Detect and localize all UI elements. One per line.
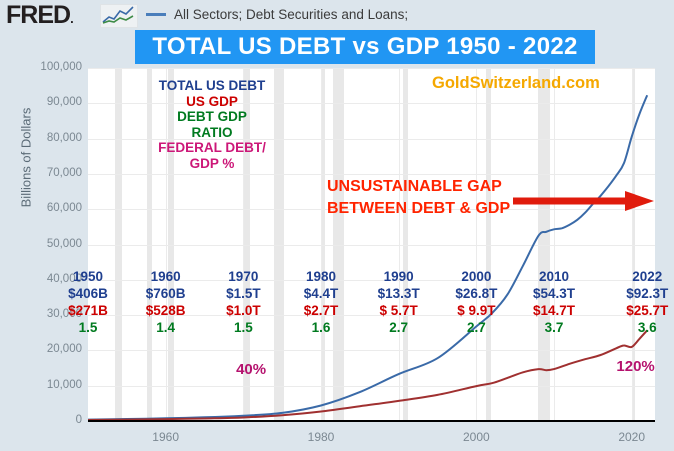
decade-ratio-value: 3.6	[607, 319, 674, 336]
decade-gdp-value: $ 9.9T	[436, 302, 516, 319]
decade-column: 2022$92.3T$25.7T3.6	[607, 268, 674, 336]
line-chart-icon	[100, 4, 138, 28]
decade-column: 2010$54.3T$14.7T3.7	[514, 268, 594, 336]
decade-debt-value: $92.3T	[607, 285, 674, 302]
decade-gdp-value: $1.0T	[203, 302, 283, 319]
decade-debt-value: $1.5T	[203, 285, 283, 302]
decade-column: 1960$760B$528B1.4	[126, 268, 206, 336]
x-axis-tick: 1960	[152, 430, 179, 444]
decade-ratio-value: 1.5	[48, 319, 128, 336]
series-key-overlay: TOTAL US DEBT US GDP DEBT GDP RATIO FEDE…	[137, 78, 287, 171]
decade-ratio-value: 2.7	[359, 319, 439, 336]
y-axis-ticks: 100,00090,00080,00070,00060,00050,00040,…	[4, 0, 82, 451]
decade-ratio-value: 1.4	[126, 319, 206, 336]
decade-column: 1980$4.4T$2.7T1.6	[281, 268, 361, 336]
x-axis-tick: 2020	[618, 430, 645, 444]
decade-year: 1970	[203, 268, 283, 285]
y-axis-tick: 50,000	[8, 238, 82, 250]
y-axis-tick: 70,000	[8, 167, 82, 179]
decade-year: 1960	[126, 268, 206, 285]
y-axis-tick: 10,000	[8, 379, 82, 391]
decade-ratio-value: 1.6	[281, 319, 361, 336]
decade-value-table: 1950$406B$271B1.51960$760B$528B1.41970$1…	[88, 268, 655, 353]
decade-gdp-value: $271B	[48, 302, 128, 319]
decade-ratio-value: 3.7	[514, 319, 594, 336]
decade-column: 1990$13.3T$ 5.7T2.7	[359, 268, 439, 336]
series-label: All Sectors; Debt Securities and Loans;	[174, 7, 408, 22]
page-title-text: TOTAL US DEBT vs GDP 1950 - 2022	[152, 33, 577, 61]
key-federal-debt-line2: GDP %	[137, 156, 287, 172]
page-title: TOTAL US DEBT vs GDP 1950 - 2022	[135, 30, 595, 64]
y-axis-tick: 100,000	[8, 61, 82, 73]
pct-1970-label: 40%	[236, 361, 266, 378]
y-axis-tick: 80,000	[8, 132, 82, 144]
decade-ratio-value: 2.7	[436, 319, 516, 336]
decade-year: 1980	[281, 268, 361, 285]
decade-gdp-value: $25.7T	[607, 302, 674, 319]
x-axis-line	[88, 420, 655, 422]
decade-year: 2022	[607, 268, 674, 285]
decade-gdp-value: $ 5.7T	[359, 302, 439, 319]
decade-year: 1990	[359, 268, 439, 285]
decade-debt-value: $13.3T	[359, 285, 439, 302]
key-us-gdp: US GDP	[137, 94, 287, 110]
decade-debt-value: $760B	[126, 285, 206, 302]
y-axis-tick: 20,000	[8, 343, 82, 355]
gap-annotation-line1: UNSUSTAINABLE GAP	[327, 176, 510, 198]
key-federal-debt-line1: FEDERAL DEBT/	[137, 140, 287, 156]
decade-column: 2000$26.8T$ 9.9T2.7	[436, 268, 516, 336]
key-debt-gdp-ratio-line1: DEBT GDP	[137, 109, 287, 125]
decade-year: 2000	[436, 268, 516, 285]
decade-year: 1950	[48, 268, 128, 285]
decade-year: 2010	[514, 268, 594, 285]
decade-debt-value: $26.8T	[436, 285, 516, 302]
x-axis-tick: 1980	[308, 430, 335, 444]
decade-debt-value: $406B	[48, 285, 128, 302]
key-total-us-debt: TOTAL US DEBT	[137, 78, 287, 94]
decade-gdp-value: $528B	[126, 302, 206, 319]
decade-gdp-value: $14.7T	[514, 302, 594, 319]
decade-gdp-value: $2.7T	[281, 302, 361, 319]
unsustainable-gap-annotation: UNSUSTAINABLE GAP BETWEEN DEBT & GDP	[327, 176, 510, 220]
decade-column: 1950$406B$271B1.5	[48, 268, 128, 336]
chart-series-legend: All Sectors; Debt Securities and Loans;	[146, 4, 408, 24]
y-axis-tick: 60,000	[8, 202, 82, 214]
watermark: GoldSwitzerland.com	[432, 74, 600, 93]
decade-debt-value: $54.3T	[514, 285, 594, 302]
key-debt-gdp-ratio-line2: RATIO	[137, 125, 287, 141]
y-axis-tick: 90,000	[8, 96, 82, 108]
gap-annotation-line2: BETWEEN DEBT & GDP	[327, 198, 510, 220]
decade-debt-value: $4.4T	[281, 285, 361, 302]
pct-2022-label: 120%	[616, 358, 654, 375]
decade-ratio-value: 1.5	[203, 319, 283, 336]
blue-line-swatch	[146, 13, 166, 16]
y-axis-tick: 0	[8, 414, 82, 426]
right-arrow-icon	[513, 190, 655, 212]
decade-column: 1970$1.5T$1.0T1.5	[203, 268, 283, 336]
x-axis-tick: 2000	[463, 430, 490, 444]
